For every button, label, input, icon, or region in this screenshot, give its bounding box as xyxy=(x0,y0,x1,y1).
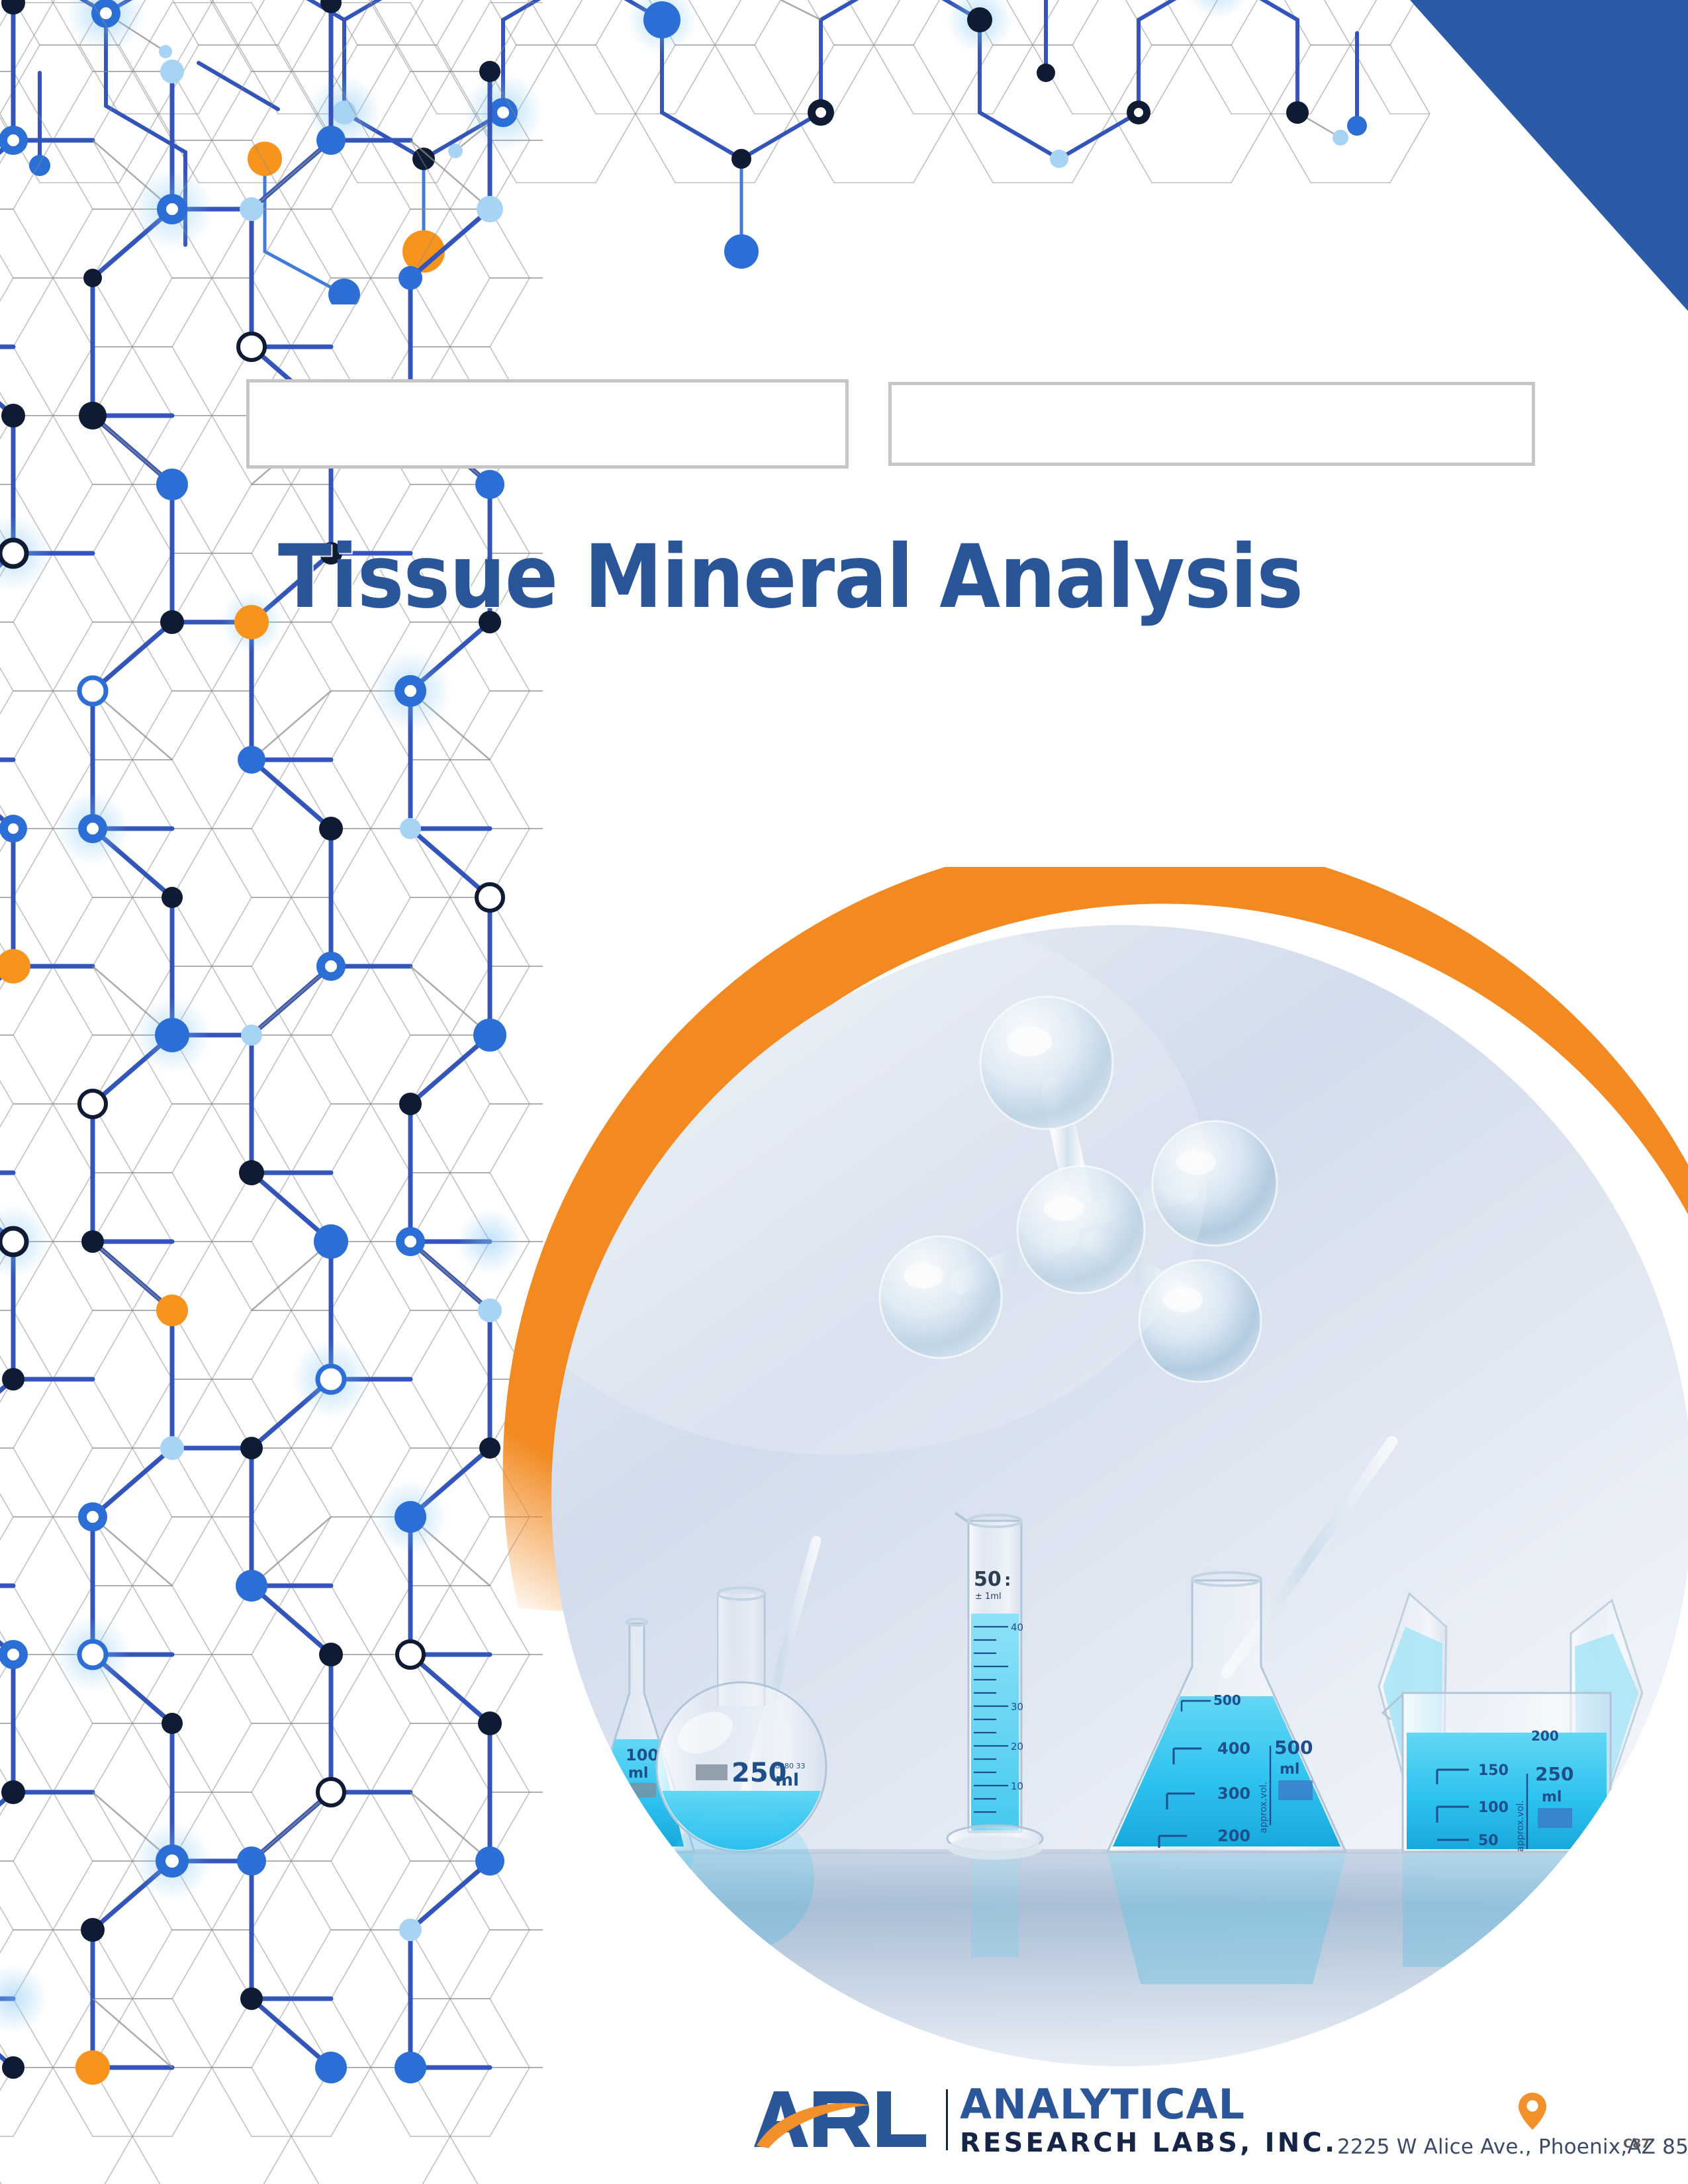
svg-text:approx.vol.: approx.vol. xyxy=(1258,1782,1269,1833)
svg-text:ml: ml xyxy=(1280,1761,1299,1778)
svg-text:30: 30 xyxy=(1011,1701,1023,1713)
svg-text:250: 250 xyxy=(1535,1763,1573,1785)
svg-text:ml: ml xyxy=(628,1765,648,1782)
logo-divider xyxy=(946,2089,948,2150)
svg-text:approx.vol.: approx.vol. xyxy=(1515,1800,1526,1852)
svg-text:40: 40 xyxy=(1011,1621,1023,1633)
svg-text:200: 200 xyxy=(1217,1827,1250,1845)
svg-text:400: 400 xyxy=(1217,1739,1250,1758)
document-code: C87 xyxy=(1623,2136,1650,2151)
svg-text:500: 500 xyxy=(1274,1737,1313,1758)
svg-text:100: 100 xyxy=(1478,1799,1509,1816)
svg-text:200: 200 xyxy=(1531,1728,1559,1744)
document-cover-page: Tissue Mineral Analysis xyxy=(0,0,1688,2184)
svg-text:100: 100 xyxy=(626,1746,659,1764)
location-pin-icon xyxy=(1519,2093,1546,2130)
arl-logo-mark xyxy=(750,2083,942,2156)
lab-photo-circle: 100 ml 75 50 approx.vol. xyxy=(551,925,1688,2066)
svg-text:50: 50 xyxy=(1478,1833,1499,1849)
lab-photo-illustration: 100 ml 75 50 approx.vol. xyxy=(551,925,1688,2066)
photo-clip-region: 100 ml 75 50 approx.vol. xyxy=(0,0,1688,2184)
svg-text:50: 50 xyxy=(974,1568,1002,1591)
svg-text:500: 500 xyxy=(1213,1692,1241,1708)
logo-wordmark: ANALYTICAL RESEARCH LABS, INC. xyxy=(960,2084,1337,2156)
lab-photo-composition: 100 ml 75 50 approx.vol. xyxy=(493,867,1688,2124)
svg-text:20: 20 xyxy=(1011,1741,1023,1752)
svg-text:ml: ml xyxy=(775,1770,799,1790)
logo-line-research-labs: RESEARCH LABS, INC. xyxy=(960,2130,1337,2156)
company-logo: ANALYTICAL RESEARCH LABS, INC. xyxy=(750,2083,1337,2156)
svg-text:± 1ml: ± 1ml xyxy=(975,1592,1002,1602)
svg-text:300: 300 xyxy=(1217,1784,1250,1803)
svg-text:150: 150 xyxy=(1478,1762,1509,1779)
svg-text:ml: ml xyxy=(1542,1789,1562,1805)
svg-text::: : xyxy=(1004,1570,1011,1590)
svg-text:8080 33: 8080 33 xyxy=(775,1762,806,1770)
logo-line-analytical: ANALYTICAL xyxy=(960,2084,1337,2125)
svg-text:10: 10 xyxy=(1011,1780,1023,1792)
